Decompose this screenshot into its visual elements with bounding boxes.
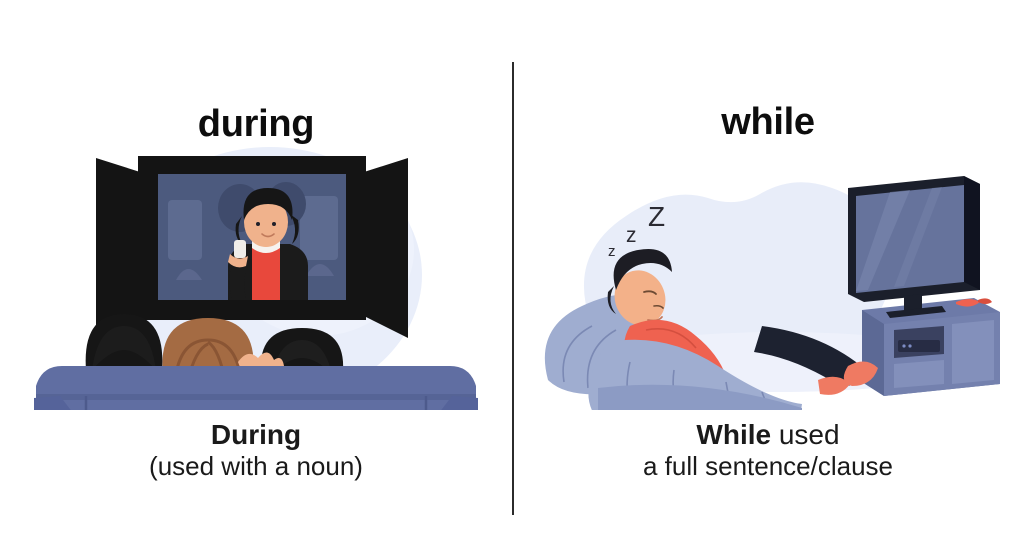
left-caption: During (used with a noun) [0, 418, 512, 482]
left-caption-strong: During [211, 419, 301, 450]
svg-text:z: z [608, 243, 616, 260]
right-caption-line1: While used [512, 418, 1024, 451]
left-caption-line1: During [0, 418, 512, 451]
right-caption: While used a full sentence/clause [512, 418, 1024, 482]
right-caption-rest: used [779, 419, 840, 450]
television-icon [848, 176, 1000, 396]
left-illustration [0, 130, 512, 410]
panel-divider [512, 62, 514, 515]
svg-text:Z: Z [648, 201, 665, 232]
svg-text:z: z [626, 224, 637, 247]
left-caption-line2: (used with a noun) [0, 451, 512, 482]
right-illustration: z z Z [512, 130, 1024, 410]
right-caption-line2: a full sentence/clause [512, 451, 1024, 482]
cinema-screen-icon [96, 156, 408, 338]
panel-while: while z z Z [512, 0, 1024, 559]
sofa-icon [34, 366, 478, 410]
comparison-board: during [0, 0, 1024, 559]
right-caption-strong: While [696, 419, 771, 450]
panel-during: during [0, 0, 512, 559]
